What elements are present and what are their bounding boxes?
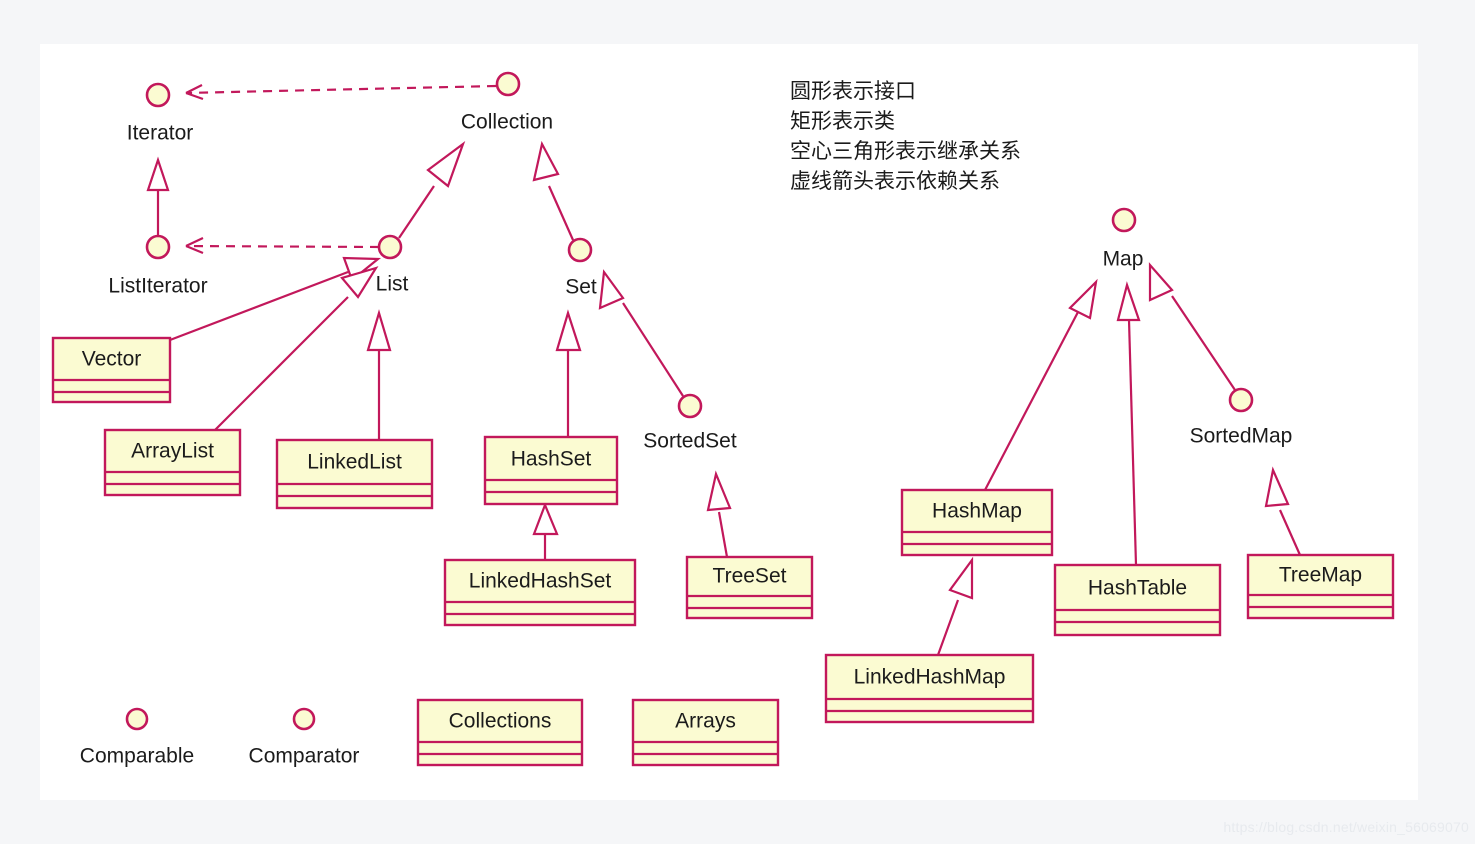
interface-node-set[interactable]: Set (565, 239, 597, 299)
class-label-collections: Collections (449, 710, 552, 733)
interface-label-map: Map (1103, 248, 1144, 271)
interface-node-sortedset[interactable]: SortedSet (643, 395, 737, 453)
class-box-arrays[interactable]: Arrays (633, 700, 778, 765)
class-label-arraylist: ArrayList (131, 440, 214, 463)
interface-label-list: List (376, 273, 409, 296)
interface-node-comparator[interactable]: Comparator (249, 709, 360, 768)
class-box-hashtable[interactable]: HashTable (1055, 565, 1220, 635)
relation-linkedhashmap-to-hashmap (938, 560, 972, 655)
interface-circle-sortedset[interactable] (679, 395, 701, 417)
interface-circle-comparable[interactable] (127, 709, 147, 729)
class-label-linkedhashset: LinkedHashSet (469, 570, 612, 593)
relation-list-to-listiterator (186, 238, 379, 253)
class-box-hashset[interactable]: HashSet (485, 437, 617, 504)
class-label-hashmap: HashMap (932, 500, 1022, 523)
class-layer: Vector ArrayList LinkedList HashSet (53, 338, 1393, 765)
class-label-arrays: Arrays (675, 710, 736, 733)
relation-linkedlist-to-list (368, 313, 390, 440)
interface-circle-list[interactable] (379, 236, 401, 258)
interface-circle-collection[interactable] (497, 73, 519, 95)
interface-node-collection[interactable]: Collection (461, 73, 553, 134)
relation-set-to-collection (534, 144, 573, 240)
class-label-treeset: TreeSet (713, 565, 787, 588)
class-box-collections[interactable]: Collections (418, 700, 582, 765)
interface-label-listiterator: ListIterator (108, 275, 207, 298)
relation-list-to-collection (399, 144, 463, 238)
watermark-text: https://blog.csdn.net/weixin_56069070 (1223, 819, 1469, 835)
interface-circle-iterator[interactable] (147, 84, 169, 106)
relation-collection-to-iterator (186, 85, 496, 99)
relation-sortedmap-to-map (1150, 265, 1235, 390)
interface-circle-map[interactable] (1113, 209, 1135, 231)
interface-node-iterator[interactable]: Iterator (127, 84, 194, 145)
class-box-treeset[interactable]: TreeSet (687, 557, 812, 618)
relation-treemap-to-sortedmap (1266, 470, 1300, 555)
interface-label-sortedmap: SortedMap (1190, 425, 1293, 448)
class-box-arraylist[interactable]: ArrayList (105, 430, 240, 495)
class-box-linkedhashmap[interactable]: LinkedHashMap (826, 655, 1033, 722)
interface-layer: Iterator Collection ListIterator List Se… (80, 73, 1293, 768)
class-label-treemap: TreeMap (1279, 564, 1362, 587)
interface-node-map[interactable]: Map (1103, 209, 1144, 271)
relation-hashtable-to-map (1118, 285, 1139, 565)
class-box-hashmap[interactable]: HashMap (902, 490, 1052, 555)
class-label-hashtable: HashTable (1088, 577, 1187, 600)
class-label-linkedlist: LinkedList (307, 451, 402, 474)
interface-node-sortedmap[interactable]: SortedMap (1190, 389, 1293, 448)
legend-line-dashed-dependency: 虚线箭头表示依赖关系 (790, 169, 1000, 193)
class-label-vector: Vector (82, 348, 142, 371)
interface-node-comparable[interactable]: Comparable (80, 709, 194, 768)
relation-listiterator-to-iterator (148, 160, 168, 236)
legend-line-triangle-inheritance: 空心三角形表示继承关系 (790, 139, 1021, 163)
uml-diagram: Iterator Collection ListIterator List Se… (0, 0, 1475, 844)
relation-hashmap-to-map (985, 282, 1096, 490)
class-box-linkedlist[interactable]: LinkedList (277, 440, 432, 508)
legend-line-rect-class: 矩形表示类 (790, 109, 895, 133)
diagram-page: Iterator Collection ListIterator List Se… (0, 0, 1475, 844)
interface-circle-comparator[interactable] (294, 709, 314, 729)
interface-circle-listiterator[interactable] (147, 236, 169, 258)
interface-node-listiterator[interactable]: ListIterator (108, 236, 207, 298)
class-box-treemap[interactable]: TreeMap (1248, 555, 1393, 618)
relation-hashset-to-set (557, 313, 580, 437)
interface-label-set: Set (565, 276, 597, 299)
interface-circle-set[interactable] (569, 239, 591, 261)
class-label-linkedhashmap: LinkedHashMap (854, 666, 1006, 689)
class-label-hashset: HashSet (511, 448, 592, 471)
relation-treeset-to-sortedset (708, 474, 730, 557)
legend-line-circle-interface: 圆形表示接口 (790, 79, 916, 103)
interface-circle-sortedmap[interactable] (1230, 389, 1252, 411)
class-box-linkedhashset[interactable]: LinkedHashSet (445, 560, 635, 625)
interface-label-iterator: Iterator (127, 122, 194, 145)
interface-label-comparator: Comparator (249, 745, 360, 768)
relation-sortedset-to-set (600, 272, 683, 396)
interface-label-collection: Collection (461, 111, 553, 134)
legend: 圆形表示接口 矩形表示类 空心三角形表示继承关系 虚线箭头表示依赖关系 (790, 79, 1021, 193)
interface-label-sortedset: SortedSet (643, 430, 737, 453)
class-box-vector[interactable]: Vector (53, 338, 170, 402)
interface-node-list[interactable]: List (376, 236, 409, 296)
relation-linkedhashset-to-hashset (534, 505, 557, 560)
interface-label-comparable: Comparable (80, 745, 194, 768)
